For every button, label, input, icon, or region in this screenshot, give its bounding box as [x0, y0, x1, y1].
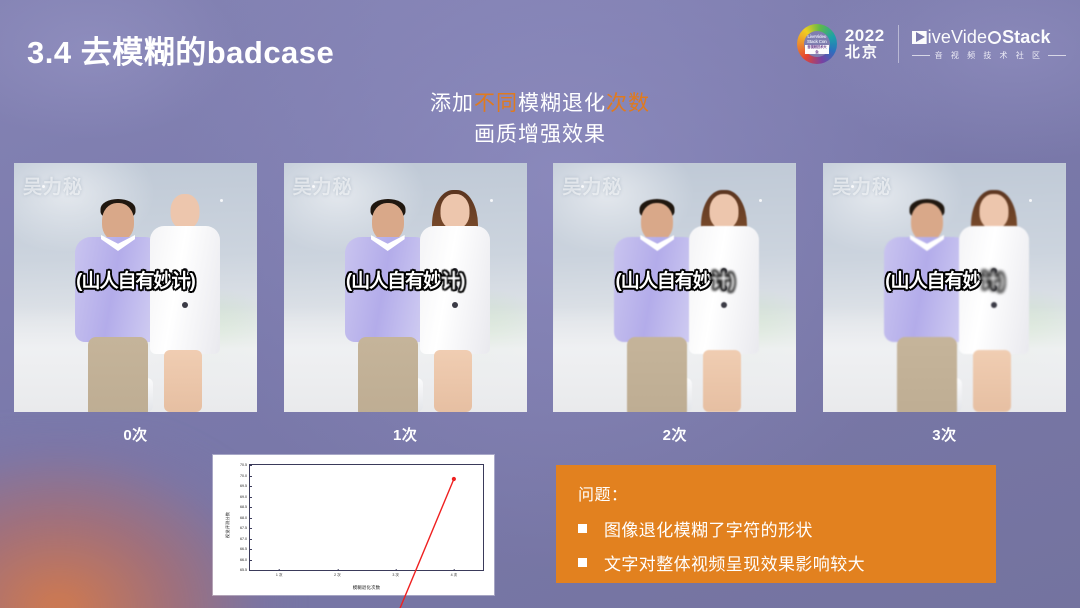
male-trousers — [897, 337, 957, 412]
video-frame-3: 吴力秘 (山人自有妙计) — [823, 163, 1066, 412]
subtitle-head: (山人自有妙 — [346, 271, 441, 292]
frame-caption-2: 2次 — [553, 424, 796, 445]
frame-caption-1: 1次 — [284, 424, 527, 445]
brand-tagline: 音 视 频 技 术 社 区 — [935, 50, 1043, 61]
ring-inner-text: LiveVideo Stack Con 音视频技术大会 — [805, 34, 829, 55]
burned-in-subtitle: (山人自有妙计) — [346, 266, 465, 293]
chart-x-tick: 1 次 — [276, 573, 283, 578]
burned-in-subtitle: (山人自有妙计) — [76, 266, 195, 293]
frame-caption-3: 3次 — [823, 424, 1066, 445]
frame-caption-0: 0次 — [14, 424, 257, 445]
chart-y-axis-label: 视觉评测分数 — [225, 512, 231, 538]
chart-y-tick: 68.0 — [240, 516, 247, 520]
male-head — [372, 203, 404, 241]
video-frame-0: 吴力秘 (山人自有妙计) — [14, 163, 257, 412]
subtitle-highlight-1: 不同 — [474, 92, 518, 115]
burned-in-subtitle: (山人自有妙计) — [615, 266, 734, 293]
frame-watermark: 吴力秘 — [832, 172, 892, 199]
score-chart-card: 视觉评测分数 模糊退化次数 70.570.069.569.068.568.067… — [213, 455, 494, 595]
chart-y-tick: 70.0 — [240, 474, 247, 478]
female-legs — [703, 350, 741, 412]
chart-x-tick: 4 次 — [451, 573, 458, 578]
issues-list: 图像退化模糊了字符的形状 文字对整体视频呈现效果影响较大 — [578, 516, 974, 575]
list-item: 图像退化模糊了字符的形状 — [578, 516, 974, 541]
issue-text: 文字对整体视频呈现效果影响较大 — [604, 550, 865, 575]
brand-tagline-row: 音 视 频 技 术 社 区 — [912, 50, 1066, 61]
subtitle-text-1: 添加 — [430, 92, 474, 115]
ring-text-line2: Stack Con — [805, 39, 829, 44]
tagline-rule-right — [1048, 55, 1066, 56]
chart-y-tick: 67.5 — [240, 526, 247, 530]
livevideostack-ring-icon: LiveVideo Stack Con 音视频技术大会 — [797, 24, 837, 64]
female-head — [979, 194, 1008, 229]
slide-root: 3.4 去模糊的badcase 添加不同模糊退化次数 画质增强效果 LiveVi… — [0, 0, 1080, 608]
subtitle-block: 添加不同模糊退化次数 画质增强效果 — [0, 88, 1080, 150]
female-head — [710, 194, 739, 229]
female-head — [171, 194, 200, 229]
logo-year: 2022 — [845, 27, 885, 45]
frame-caption-row: 0次 1次 2次 3次 — [14, 424, 1066, 445]
female-legs — [973, 350, 1011, 412]
page-title: 3.4 去模糊的badcase — [27, 27, 334, 72]
person-female — [681, 190, 767, 412]
subtitle-tail: 计) — [172, 266, 195, 293]
female-head — [440, 194, 469, 229]
subtitle-line-2: 画质增强效果 — [0, 119, 1080, 150]
male-trousers — [358, 337, 418, 412]
person-female — [142, 190, 228, 412]
person-female — [951, 190, 1037, 412]
logo-mark: LiveVideo Stack Con 音视频技术大会 2022 北京 — [797, 24, 885, 64]
female-legs — [434, 350, 472, 412]
subtitle-tail: 计) — [980, 266, 1003, 293]
video-frame-row: 吴力秘 (山人自有妙计) 吴力秘 — [14, 163, 1066, 412]
subtitle-tail: 计) — [441, 266, 464, 293]
brand-circle-icon — [988, 31, 1001, 44]
chart-x-tick: 2 次 — [334, 573, 341, 578]
frame-watermark: 吴力秘 — [293, 172, 353, 199]
chart-y-tick: 66.5 — [240, 547, 247, 551]
issues-callout: 问题： 图像退化模糊了字符的形状 文字对整体视频呈现效果影响较大 — [556, 465, 996, 583]
brand-text-2: Stack — [1002, 27, 1051, 48]
male-head — [641, 203, 673, 241]
video-frame-1: 吴力秘 (山人自有妙计) — [284, 163, 527, 412]
chart-y-tick: 70.5 — [240, 463, 247, 467]
play-button-icon — [912, 31, 927, 44]
male-trousers — [627, 337, 687, 412]
chart-plot-area: 70.570.069.569.068.568.067.567.066.566.0… — [249, 464, 484, 571]
male-head — [102, 203, 134, 241]
subtitle-head: (山人自有妙 — [885, 271, 980, 292]
chart-x-tick: 3 次 — [392, 573, 399, 578]
chart-line-series — [250, 465, 483, 608]
female-legs — [164, 350, 202, 412]
frame-watermark: 吴力秘 — [23, 172, 83, 199]
male-head — [911, 203, 943, 241]
burned-in-subtitle: (山人自有妙计) — [885, 266, 1004, 293]
brand-wordmark: iveVideStack — [912, 27, 1066, 48]
person-female — [412, 190, 498, 412]
chart-y-tick: 67.0 — [240, 537, 247, 541]
square-bullet-icon — [578, 524, 587, 533]
subtitle-highlight-2: 次数 — [606, 92, 650, 115]
chart-y-tick: 68.5 — [240, 505, 247, 509]
subtitle-tail: 计) — [711, 266, 734, 293]
square-bullet-icon — [578, 558, 587, 567]
chart-y-tick: 66.0 — [240, 558, 247, 562]
logo-year-city: 2022 北京 — [845, 27, 885, 61]
frame-watermark: 吴力秘 — [562, 172, 622, 199]
chart-y-tick: 69.0 — [240, 495, 247, 499]
subtitle-head: (山人自有妙 — [76, 271, 171, 292]
subtitle-head: (山人自有妙 — [615, 271, 710, 292]
list-item: 文字对整体视频呈现效果影响较大 — [578, 550, 974, 575]
logo-city: 北京 — [845, 45, 885, 61]
video-frame-2: 吴力秘 (山人自有妙计) — [553, 163, 796, 412]
chart-y-tick: 69.5 — [240, 484, 247, 488]
male-trousers — [88, 337, 148, 412]
issues-title: 问题： — [578, 481, 974, 505]
tagline-rule-left — [912, 55, 930, 56]
conference-logo: LiveVideo Stack Con 音视频技术大会 2022 北京 iveV… — [797, 24, 1066, 64]
logo-brand: iveVideStack 音 视 频 技 术 社 区 — [912, 27, 1066, 61]
brand-text-1: iveVide — [928, 27, 987, 48]
subtitle-text-2: 模糊退化 — [518, 92, 606, 115]
chart-y-tick: 65.5 — [240, 568, 247, 572]
chart-inner: 视觉评测分数 模糊退化次数 70.570.069.569.068.568.067… — [213, 455, 494, 595]
logo-divider — [898, 25, 899, 63]
ring-text-line3: 音视频技术大会 — [805, 45, 829, 54]
issue-text: 图像退化模糊了字符的形状 — [604, 516, 813, 541]
